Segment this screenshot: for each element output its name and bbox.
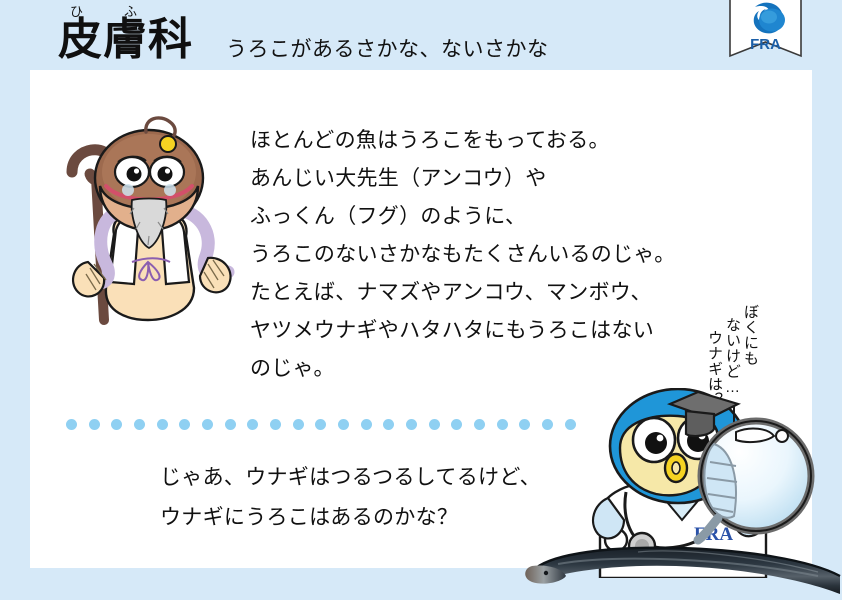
page-title: 皮膚科: [58, 16, 193, 64]
divider-dot: [542, 419, 553, 430]
divider-dot: [497, 419, 508, 430]
divider-dot: [225, 419, 236, 430]
divider-dot: [157, 419, 168, 430]
divider-dot: [406, 419, 417, 430]
main-line-6: ヤツメウナギやハタハタにもうろこはない: [250, 312, 720, 350]
divider-dot: [66, 419, 77, 430]
divider-dot: [89, 419, 100, 430]
main-line-1: ほとんどの魚はうろこをもっておる。: [250, 122, 720, 160]
divider-dot: [247, 419, 258, 430]
divider-dot: [270, 419, 281, 430]
question-paragraph: じゃあ、ウナギはつるつるしてるけど、 ウナギにうろこはあるのかな？: [160, 458, 580, 538]
main-paragraph: ほとんどの魚はうろこをもっておる。 あんじい大先生（アンコウ）や ふっくん（フグ…: [250, 122, 720, 388]
slide-header: ひ ふ 皮膚科 うろこがあるさかな、ないさかな FRA: [0, 0, 842, 72]
slide-page: ひ ふ 皮膚科 うろこがあるさかな、ないさかな FRA: [0, 0, 842, 595]
main-line-7: のじゃ。: [250, 350, 720, 388]
divider-dot: [361, 419, 372, 430]
divider-dot: [179, 419, 190, 430]
divider-dot: [202, 419, 213, 430]
dotted-divider: [66, 418, 576, 430]
divider-dot: [519, 419, 530, 430]
main-line-4: うろこのないさかなもたくさんいるのじゃ。: [250, 236, 720, 274]
divider-dot: [451, 419, 462, 430]
divider-dot: [111, 419, 122, 430]
divider-dot: [338, 419, 349, 430]
question-line-2: ウナギにうろこはあるのかな？: [160, 498, 580, 538]
character-anjii-daisensei: [48, 112, 253, 327]
magnifying-glass-icon: [698, 421, 811, 540]
page-subtitle: うろこがあるさかな、ないさかな: [226, 33, 549, 63]
divider-dot: [293, 419, 304, 430]
divider-dot: [315, 419, 326, 430]
question-line-1: じゃあ、ウナギはつるつるしてるけど、: [160, 458, 580, 498]
divider-dot: [474, 419, 485, 430]
eel-photo: [518, 538, 842, 595]
main-line-3: ふっくん（フグ）のように、: [250, 198, 720, 236]
divider-dot: [134, 419, 145, 430]
fra-logo: FRA: [728, 0, 803, 66]
divider-dot: [429, 419, 440, 430]
fra-logo-text: FRA: [750, 36, 781, 53]
main-line-2: あんじい大先生（アンコウ）や: [250, 160, 720, 198]
divider-dot: [383, 419, 394, 430]
main-line-5: たとえば、ナマズやアンコウ、マンボウ、: [250, 274, 720, 312]
divider-dot: [565, 419, 576, 430]
